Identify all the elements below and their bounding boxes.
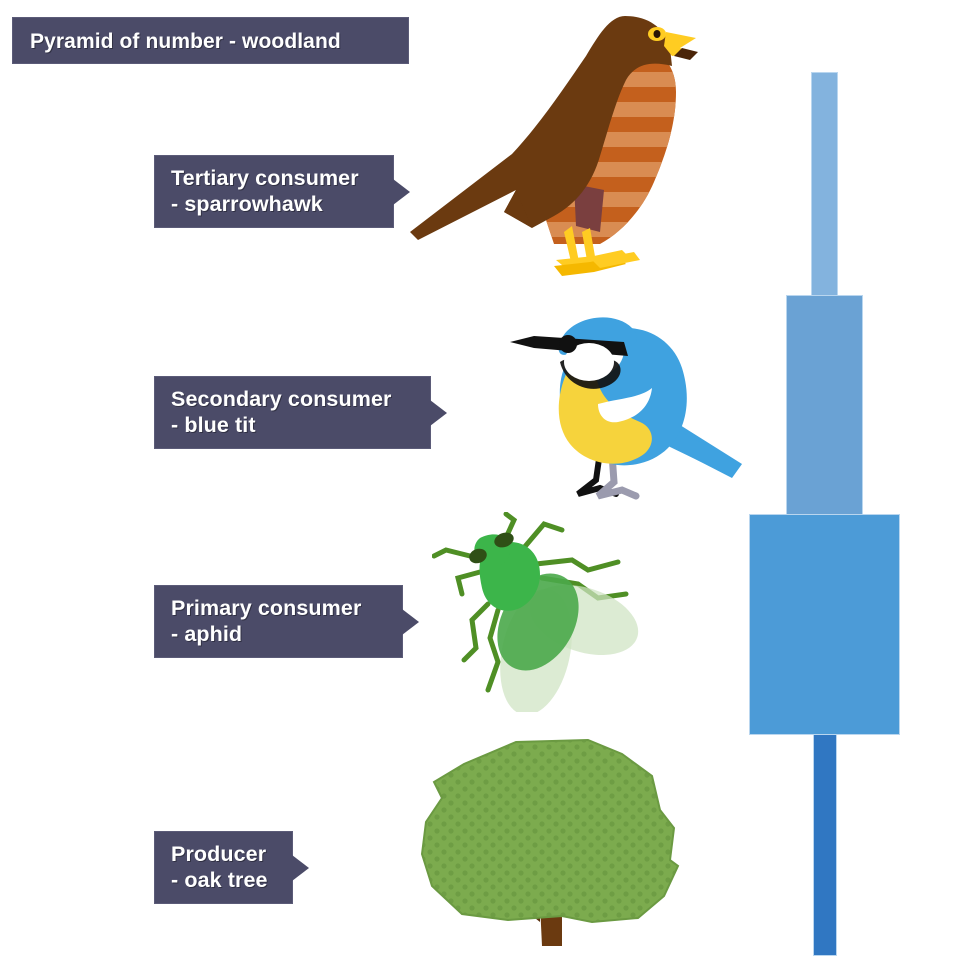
callout-tail-icon: [430, 400, 447, 426]
oak-tree-icon: [412, 736, 697, 968]
sparrowhawk-icon: [404, 4, 704, 294]
pyramid-bar-secondary: [786, 295, 863, 515]
pyramid-bar-tertiary: [811, 72, 838, 296]
diagram-canvas: Pyramid of number - woodland Tertiary co…: [0, 0, 976, 976]
label-tertiary-consumer: Tertiary consumer - sparrowhawk: [154, 155, 394, 228]
pyramid-bar-producer: [813, 734, 837, 956]
callout-tail-icon: [292, 855, 309, 881]
label-primary-consumer: Primary consumer - aphid: [154, 585, 403, 658]
page-title: Pyramid of number - woodland: [12, 17, 409, 64]
label-secondary-consumer: Secondary consumer - blue tit: [154, 376, 431, 449]
aphid-icon: [432, 512, 652, 712]
pyramid-bar-primary: [749, 514, 900, 735]
callout-tail-icon: [402, 609, 419, 635]
blue-tit-icon: [504, 302, 754, 512]
label-producer: Producer - oak tree: [154, 831, 293, 904]
